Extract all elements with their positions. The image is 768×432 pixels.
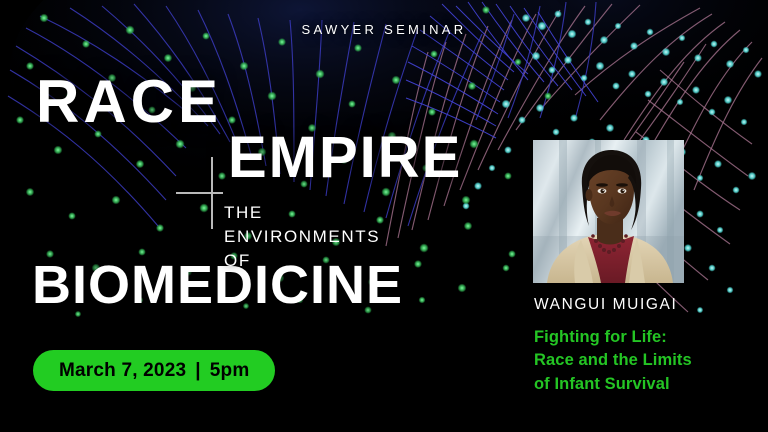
seminar-kicker: SAWYER SEMINAR: [0, 22, 768, 37]
talk-title-line-2: Race and the Limits: [534, 349, 692, 372]
speaker-portrait-photo: [533, 140, 684, 283]
event-time: 5pm: [210, 360, 250, 382]
date-time-separator: |: [186, 360, 210, 382]
subheadline-line-1: THE: [224, 201, 380, 225]
talk-title: Fighting for Life: Race and the Limits o…: [534, 326, 692, 396]
subheadline-line-2: ENVIRONMENTS: [224, 225, 380, 249]
talk-title-line-3: of Infant Survival: [534, 373, 692, 396]
cross-mark-horizontal: [176, 192, 223, 194]
headline-word-race: RACE: [36, 72, 222, 132]
subheadline: THE ENVIRONMENTS OF: [224, 201, 380, 273]
event-poster: SAWYER SEMINAR RACE EMPIRE BIOMEDICINE T…: [0, 0, 768, 432]
subheadline-line-3: OF: [224, 249, 380, 273]
talk-title-line-1: Fighting for Life:: [534, 326, 692, 349]
event-date: March 7, 2023: [59, 360, 186, 382]
date-time-badge: March 7, 2023 | 5pm: [33, 350, 275, 391]
speaker-name: WANGUI MUIGAI: [534, 296, 677, 314]
headline-word-empire: EMPIRE: [228, 129, 462, 187]
